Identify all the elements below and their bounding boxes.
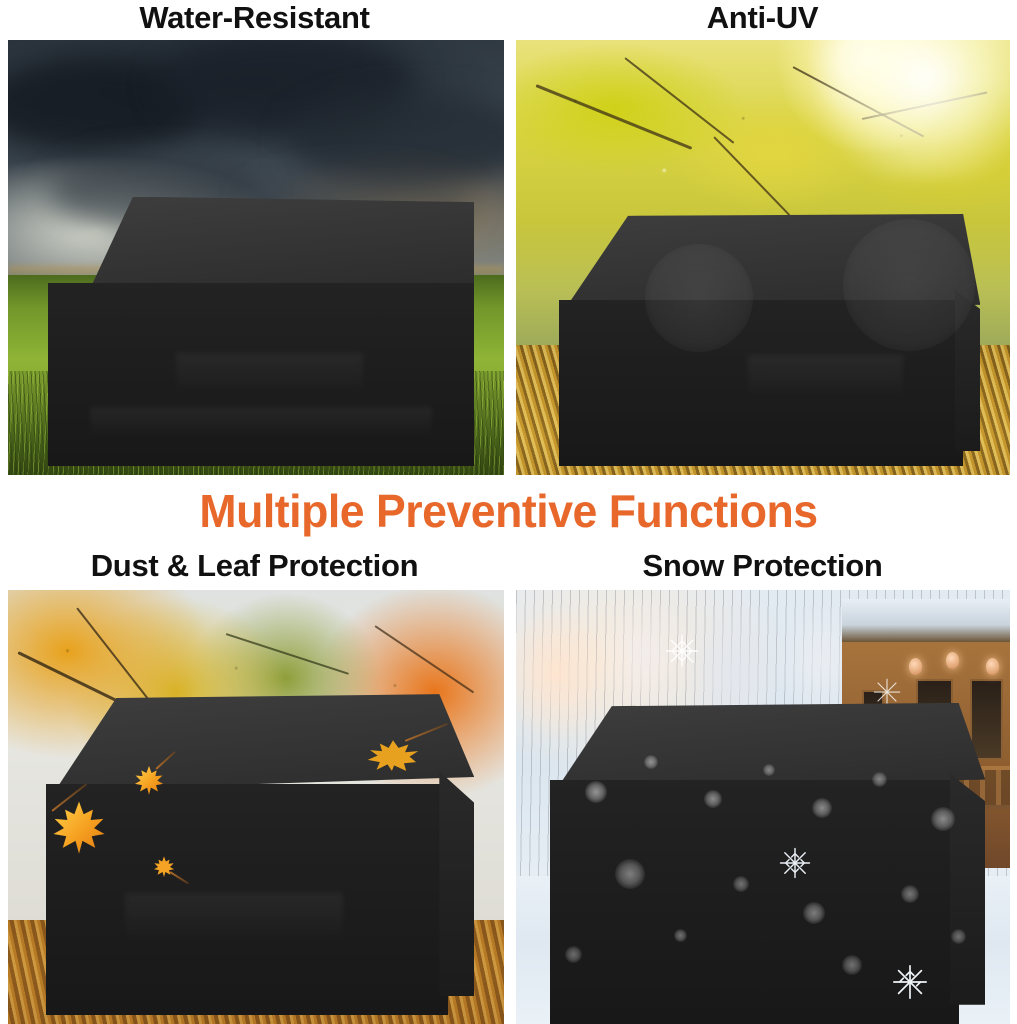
cover-front-face bbox=[550, 780, 959, 1024]
panel-caption-anti-uv: Anti-UV bbox=[508, 0, 1017, 36]
cover-top-face bbox=[48, 197, 475, 289]
cover-top-face bbox=[541, 703, 986, 787]
furniture-cover bbox=[48, 197, 475, 467]
cover-side-face bbox=[439, 771, 474, 996]
furniture-cover bbox=[551, 214, 981, 466]
cover-fold-highlight bbox=[125, 893, 343, 944]
cover-fold-highlight bbox=[176, 353, 364, 396]
cover-side-face bbox=[950, 773, 986, 1004]
panel-dust-leaf-protection bbox=[8, 590, 504, 1024]
headline-multiple-preventive-functions: Multiple Preventive Functions bbox=[15, 484, 1001, 538]
cover-fold-highlight bbox=[90, 407, 431, 439]
furniture-cover bbox=[541, 703, 986, 1024]
porch-lamp bbox=[946, 652, 959, 669]
cover-fold-highlight bbox=[748, 355, 903, 400]
panel-anti-uv bbox=[516, 40, 1010, 475]
panel-caption-snow-protection: Snow Protection bbox=[508, 548, 1017, 584]
furniture-cover bbox=[38, 694, 474, 1015]
porch-lamp bbox=[986, 658, 999, 675]
cover-top-face bbox=[38, 694, 474, 790]
panel-snow-protection bbox=[516, 590, 1010, 1024]
cover-top-face bbox=[551, 214, 981, 305]
cabin-roof bbox=[842, 599, 1010, 642]
product-feature-collage: Water-Resistant Anti-UV bbox=[0, 0, 1017, 1024]
panel-caption-water-resistant: Water-Resistant bbox=[0, 0, 509, 36]
porch-lamp bbox=[909, 658, 922, 675]
panel-water-resistant bbox=[8, 40, 504, 475]
panel-caption-dust-leaf: Dust & Leaf Protection bbox=[0, 548, 509, 584]
cover-side-face bbox=[955, 290, 981, 451]
